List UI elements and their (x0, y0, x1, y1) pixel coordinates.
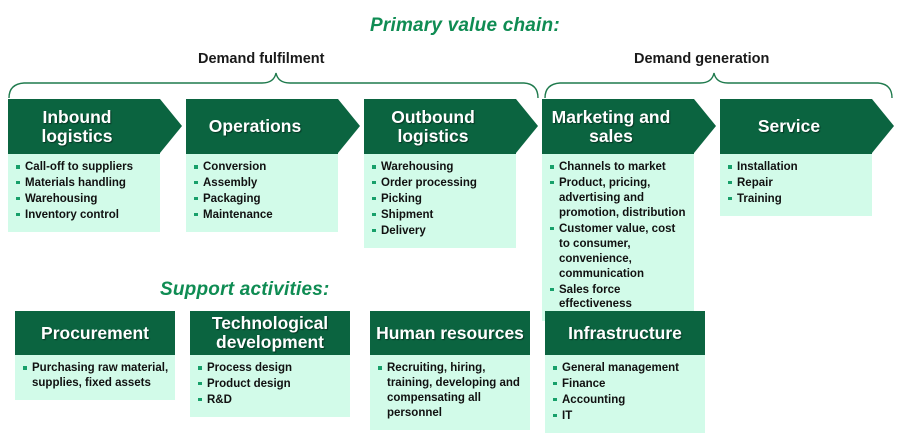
stage-header-inbound-logistics[interactable]: Inbound logistics (8, 99, 160, 154)
brace-left (9, 73, 538, 98)
value-chain-stage-service[interactable]: Service Installation Repair Training (720, 99, 872, 216)
demand-fulfilment-label: Demand fulfilment (198, 51, 324, 67)
support-activity-procurement[interactable]: Procurement Purchasing raw material, sup… (15, 311, 175, 400)
list-item: Customer value, cost to consumer, conven… (549, 222, 688, 282)
list-item: Assembly (193, 176, 332, 191)
list-item: Process design (197, 361, 344, 376)
stage-panel-inbound-logistics: Call-off to suppliers Materials handling… (8, 154, 160, 232)
list-item: Warehousing (371, 160, 510, 175)
list-item: Warehousing (15, 192, 154, 207)
stage-header-service[interactable]: Service (720, 99, 872, 154)
stage-panel-operations: Conversion Assembly Packaging Maintenanc… (186, 154, 338, 232)
list-item: Call-off to suppliers (15, 160, 154, 175)
list-item: Purchasing raw material, supplies, fixed… (22, 361, 169, 391)
list-item: Recruiting, hiring, training, developing… (377, 361, 524, 421)
list-item: Picking (371, 192, 510, 207)
list-item: Sales force effectiveness (549, 283, 688, 313)
list-item: Maintenance (193, 208, 332, 223)
list-item: Shipment (371, 208, 510, 223)
stage-bullet-list: Warehousing Order processing Picking Shi… (371, 160, 510, 239)
list-item: Packaging (193, 192, 332, 207)
stage-title: Service (758, 117, 820, 136)
support-activities-title: Support activities: (160, 279, 330, 301)
list-item: Delivery (371, 224, 510, 239)
support-bullet-list: Purchasing raw material, supplies, fixed… (22, 361, 169, 391)
stage-header-marketing-and-sales[interactable]: Marketing and sales (542, 99, 694, 154)
grouping-braces (0, 70, 900, 100)
support-header-infrastructure[interactable]: Infrastructure (545, 311, 705, 355)
list-item: Repair (727, 176, 866, 191)
list-item: IT (552, 409, 699, 424)
list-item: Product design (197, 377, 344, 392)
list-item: General management (552, 361, 699, 376)
value-chain-stage-operations[interactable]: Operations Conversion Assembly Packaging… (186, 99, 338, 232)
support-title-text: Human resources (376, 324, 524, 343)
list-item: R&D (197, 393, 344, 408)
stage-bullet-list: Installation Repair Training (727, 160, 866, 207)
list-item: Product, pricing, advertising and promot… (549, 176, 688, 221)
stage-title: Operations (209, 117, 301, 136)
list-item: Finance (552, 377, 699, 392)
list-item: Materials handling (15, 176, 154, 191)
support-activity-human-resources[interactable]: Human resources Recruiting, hiring, trai… (370, 311, 530, 430)
list-item: Installation (727, 160, 866, 175)
list-item: Conversion (193, 160, 332, 175)
support-header-human-resources[interactable]: Human resources (370, 311, 530, 355)
stage-header-operations[interactable]: Operations (186, 99, 338, 154)
support-activity-technological-development[interactable]: Technological development Process design… (190, 311, 350, 417)
brace-right (545, 73, 892, 98)
value-chain-stage-outbound-logistics[interactable]: Outbound logistics Warehousing Order pro… (364, 99, 516, 248)
support-header-technological-development[interactable]: Technological development (190, 311, 350, 355)
primary-value-chain-title: Primary value chain: (370, 15, 560, 37)
stage-title: Inbound logistics (16, 108, 138, 146)
support-bullet-list: Recruiting, hiring, training, developing… (377, 361, 524, 421)
stage-header-outbound-logistics[interactable]: Outbound logistics (364, 99, 516, 154)
stage-bullet-list: Conversion Assembly Packaging Maintenanc… (193, 160, 332, 223)
stage-bullet-list: Call-off to suppliers Materials handling… (15, 160, 154, 223)
stage-panel-marketing-and-sales: Channels to market Product, pricing, adv… (542, 154, 694, 321)
value-chain-stage-inbound-logistics[interactable]: Inbound logistics Call-off to suppliers … (8, 99, 160, 232)
stage-panel-outbound-logistics: Warehousing Order processing Picking Shi… (364, 154, 516, 248)
value-chain-stage-marketing-and-sales[interactable]: Marketing and sales Channels to market P… (542, 99, 694, 321)
demand-generation-label: Demand generation (634, 51, 769, 67)
support-panel-infrastructure: General management Finance Accounting IT (545, 355, 705, 433)
stage-title: Marketing and sales (550, 108, 672, 146)
support-title-text: Infrastructure (568, 324, 682, 343)
support-panel-human-resources: Recruiting, hiring, training, developing… (370, 355, 530, 430)
support-title-text: Technological development (196, 314, 344, 352)
stage-panel-service: Installation Repair Training (720, 154, 872, 216)
list-item: Channels to market (549, 160, 688, 175)
support-header-procurement[interactable]: Procurement (15, 311, 175, 355)
support-panel-technological-development: Process design Product design R&D (190, 355, 350, 417)
support-title-text: Procurement (41, 324, 149, 343)
support-bullet-list: General management Finance Accounting IT (552, 361, 699, 424)
support-panel-procurement: Purchasing raw material, supplies, fixed… (15, 355, 175, 400)
list-item: Accounting (552, 393, 699, 408)
list-item: Order processing (371, 176, 510, 191)
stage-title: Outbound logistics (372, 108, 494, 146)
support-bullet-list: Process design Product design R&D (197, 361, 344, 408)
support-activity-infrastructure[interactable]: Infrastructure General management Financ… (545, 311, 705, 433)
list-item: Training (727, 192, 866, 207)
list-item: Inventory control (15, 208, 154, 223)
stage-bullet-list: Channels to market Product, pricing, adv… (549, 160, 688, 312)
